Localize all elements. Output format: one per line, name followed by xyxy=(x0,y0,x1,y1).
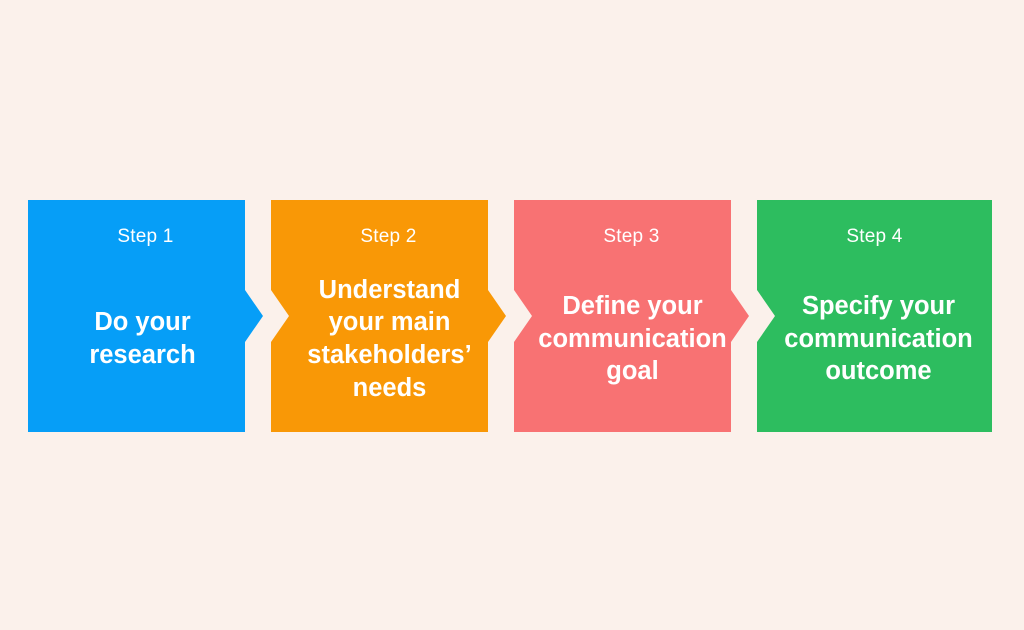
step-3-title: Define your communication goal xyxy=(514,246,749,432)
step-3-label: Step 3 xyxy=(603,227,659,246)
infographic-canvas: Step 1 Do your research Step 2 Understan… xyxy=(0,0,1024,630)
step-1-title-text: Do your research xyxy=(42,306,243,371)
step-block-1[interactable]: Step 1 Do your research xyxy=(28,200,263,432)
chevron-process-flow: Step 1 Do your research Step 2 Understan… xyxy=(28,200,992,432)
step-2-title-text: Understand your main stakeholders’ needs xyxy=(293,274,486,405)
step-4-title-text: Specify your communication outcome xyxy=(779,290,978,388)
step-2-label: Step 2 xyxy=(360,227,416,246)
step-block-4[interactable]: Step 4 Specify your communication outcom… xyxy=(757,200,992,432)
step-3-title-text: Define your communication goal xyxy=(536,290,729,388)
step-block-3[interactable]: Step 3 Define your communication goal xyxy=(514,200,749,432)
step-2-title: Understand your main stakeholders’ needs xyxy=(271,246,506,432)
step-4-label: Step 4 xyxy=(846,227,902,246)
step-block-2[interactable]: Step 2 Understand your main stakeholders… xyxy=(271,200,506,432)
step-4-title: Specify your communication outcome xyxy=(757,246,992,432)
step-1-label: Step 1 xyxy=(117,227,173,246)
step-1-title: Do your research xyxy=(28,246,263,432)
